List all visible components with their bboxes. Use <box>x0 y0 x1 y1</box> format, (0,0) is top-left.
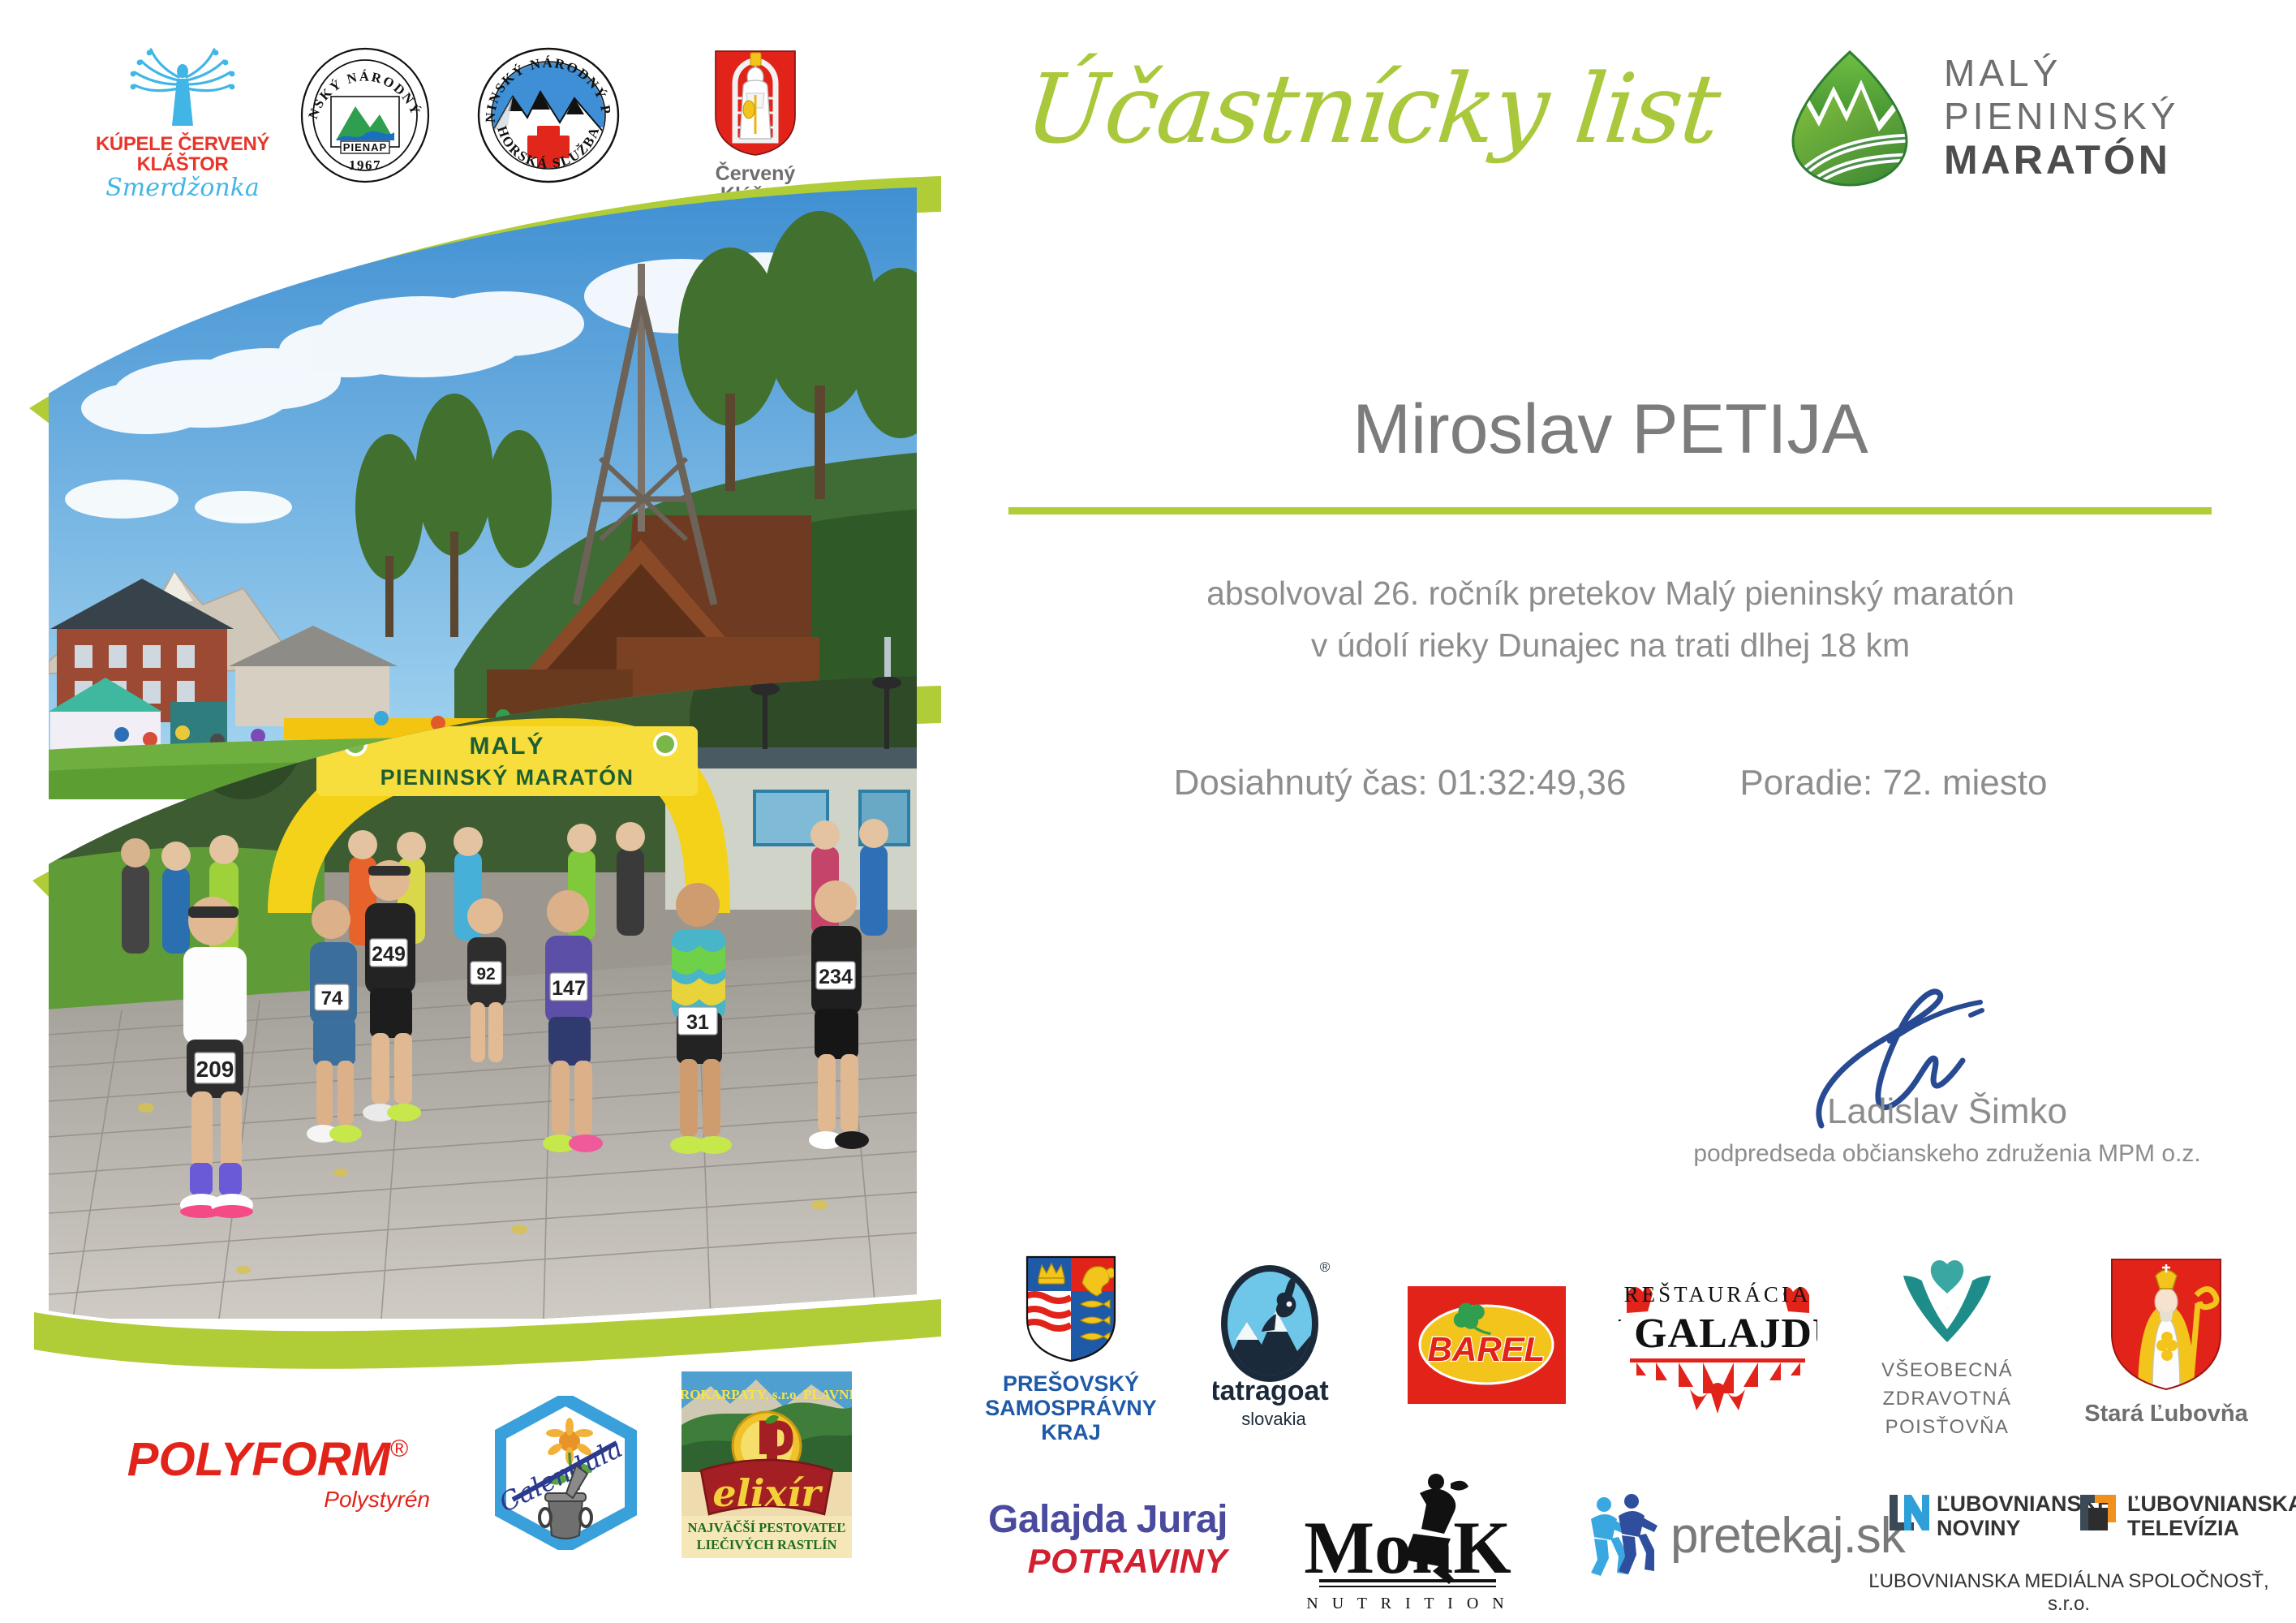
elixir-label-icon: AGROKARPATY, s.r.o. PLAVNICA elixír NAJV… <box>681 1371 852 1558</box>
sponsor-lubovnianska-televizia: ĽUBOVNIANSKA TELEVÍZIA <box>2077 1492 2296 1540</box>
coat-of-arms-monk-icon <box>711 48 800 157</box>
sponsor-calendula: Calendula <box>495 1396 637 1550</box>
svg-text:74: 74 <box>321 988 343 1010</box>
description-line-1: absolvoval 26. ročník pretekov Malý pien… <box>1006 568 2215 620</box>
sponsor-psk-line1: PREŠOVSKÝ <box>985 1371 1157 1396</box>
sponsor-u-galajdu: REŠTAURÁCIA U GALAJDU <box>1619 1266 1817 1420</box>
placement: Poradie: 72. miesto <box>1739 763 2047 803</box>
sponsor-monk-nutrition: MonK N U T R I T I O N <box>1298 1469 1517 1619</box>
signatory-name: Ladislav Šimko <box>1639 1091 2255 1132</box>
svg-text:31: 31 <box>686 1011 709 1034</box>
sponsor-psk-line3: KRAJ <box>985 1420 1157 1444</box>
svg-text:MALÝ: MALÝ <box>470 732 545 760</box>
photo-collage: MALÝ PIENINSKÝ MARATÓN <box>0 150 957 1392</box>
page-title: Účastnícky list <box>1026 61 1740 199</box>
sponsor-monk-sub: N U T R I T I O N <box>1306 1595 1508 1612</box>
sponsor-elixir-cap2: LIEČIVÝCH RASTLÍN <box>697 1537 837 1552</box>
placement-value: 72. miesto <box>1882 763 2047 803</box>
sponsor-lt-line1: ĽUBOVNIANSKA <box>2127 1492 2296 1516</box>
sponsor-elixir-top: AGROKARPATY, s.r.o. PLAVNICA <box>681 1387 852 1402</box>
sponsor-psk-line2: SAMOSPRÁVNY <box>985 1396 1157 1420</box>
sponsor-galajda-juraj: Galajda Juraj POTRAVINY <box>988 1497 1228 1581</box>
sponsor-elixir-name: elixír <box>712 1471 823 1515</box>
sponsor-monk-name: MonK <box>1304 1506 1511 1589</box>
event-logo-line-3: MARATÓN <box>1944 137 2179 183</box>
sponsor-tatragoat-sub: slovakia <box>1241 1410 1305 1430</box>
svg-text:92: 92 <box>476 965 495 984</box>
mortar-and-flower-icon: Calendula <box>495 1396 637 1550</box>
green-leaf-mountain-icon <box>1777 47 1923 189</box>
svg-text:234: 234 <box>819 966 853 988</box>
svg-text:PIENINSKÝ MARATÓN: PIENINSKÝ MARATÓN <box>381 764 634 790</box>
signatory-role: podpredseda občianskeho združenia MPM o.… <box>1639 1140 2255 1168</box>
sponsor-pretekaj-name: pretekaj.sk <box>1670 1507 1905 1565</box>
sponsor-stara-lubovna: Stará Ľubovňa <box>2077 1256 2255 1427</box>
sponsor-elixir: AGROKARPATY, s.r.o. PLAVNICA elixír NAJV… <box>681 1371 852 1558</box>
finish-time-value: 01:32:49,36 <box>1438 763 1626 803</box>
sponsor-vszp-line1: VŠEOBECNÁ <box>1881 1357 2013 1385</box>
sponsor-polyform-name: POLYFORM <box>127 1432 390 1487</box>
section-divider <box>1008 507 2212 514</box>
event-logo-line-1: MALÝ <box>1944 52 2179 94</box>
description-line-2: v údolí rieky Dunajec na trati dlhej 18 … <box>1006 620 2215 672</box>
sponsor-pretekaj: pretekaj.sk <box>1586 1493 1905 1578</box>
sponsor-u-galajdu-top: REŠTAURÁCIA <box>1624 1282 1812 1307</box>
sponsor-tatragoat: ® tatragoat slovakia <box>1185 1254 1363 1430</box>
sponsor-polyform: POLYFORM ® Polystyrén <box>97 1432 438 1513</box>
sponsor-presovsky-samospravny-kraj: PREŠOVSKÝ SAMOSPRÁVNY KRAJ <box>982 1254 1160 1445</box>
registered-mark-icon: ® <box>1320 1259 1331 1275</box>
result-row: Dosiahnutý čas: 01:32:49,36 Poradie: 72.… <box>1006 763 2215 803</box>
bishop-coat-of-arms-icon <box>2105 1256 2227 1394</box>
sponsor-polyform-sub: Polystyrén <box>324 1487 430 1513</box>
finish-time: Dosiahnutý čas: 01:32:49,36 <box>1174 763 1627 803</box>
sponsor-lt-line2: TELEVÍZIA <box>2127 1516 2296 1540</box>
finish-time-label: Dosiahnutý čas: <box>1174 763 1428 803</box>
page-title-text: Účastnícky list <box>1021 61 1745 157</box>
sponsor-vszp-line3: POISŤOVŇA <box>1881 1414 2013 1442</box>
water-angel-icon <box>114 45 252 134</box>
two-runners-icon <box>1586 1493 1661 1578</box>
sponsor-tatragoat-name: tatragoat <box>1213 1375 1329 1406</box>
chamois-mountain-icon: ® tatragoat <box>1213 1254 1335 1408</box>
sponsor-galajda-line2: POTRAVINY <box>1028 1542 1228 1581</box>
registered-mark-icon: ® <box>390 1436 408 1463</box>
sponsor-vszp: VŠEOBECNÁ ZDRAVOTNÁ POISŤOVŇA <box>1866 1258 2028 1441</box>
event-logo-line-2: PIENINSKÝ <box>1944 95 2179 137</box>
sponsor-elixir-cap1: NAJVÄČŠÍ PESTOVATEĽ <box>688 1520 846 1535</box>
teal-heart-v-icon <box>1898 1258 1996 1347</box>
recipient-name: Miroslav PETIJA <box>1006 390 2215 470</box>
sponsor-lms-caption: ĽUBOVNIANSKA MEDIÁLNA SPOLOČNOSŤ, s.r.o. <box>1850 1570 2288 1616</box>
running-monk-icon: MonK N U T R I T I O N <box>1298 1469 1517 1619</box>
sponsor-barel: BAREL <box>1408 1286 1566 1404</box>
sponsor-barel-name: BAREL <box>1428 1330 1546 1368</box>
ln-mark-icon <box>1886 1492 1930 1535</box>
event-logo: MALÝ PIENINSKÝ MARATÓN <box>1777 45 2280 191</box>
folk-ornament-icon: REŠTAURÁCIA U GALAJDU <box>1619 1266 1817 1420</box>
svg-text:209: 209 <box>196 1057 234 1082</box>
sponsor-u-galajdu-name: U GALAJDU <box>1619 1311 1817 1357</box>
sponsor-galajda-line1: Galajda Juraj <box>988 1497 1228 1542</box>
event-logo-wordmark: MALÝ PIENINSKÝ MARATÓN <box>1944 52 2179 183</box>
certificate-description: absolvoval 26. ročník pretekov Malý pien… <box>1006 568 2215 671</box>
sponsor-stara-lubovna-caption: Stará Ľubovňa <box>2084 1401 2247 1427</box>
lt-mark-icon <box>2077 1492 2121 1535</box>
regional-coat-of-arms-icon <box>1022 1254 1120 1363</box>
sponsor-vszp-line2: ZDRAVOTNÁ <box>1881 1385 2013 1414</box>
placement-label: Poradie: <box>1739 763 1872 803</box>
svg-text:147: 147 <box>552 977 586 1000</box>
svg-text:249: 249 <box>372 943 406 966</box>
signature-block: Ladislav Šimko podpredseda občianskeho z… <box>1639 986 2255 1197</box>
clover-oval-icon: BAREL <box>1408 1286 1566 1404</box>
